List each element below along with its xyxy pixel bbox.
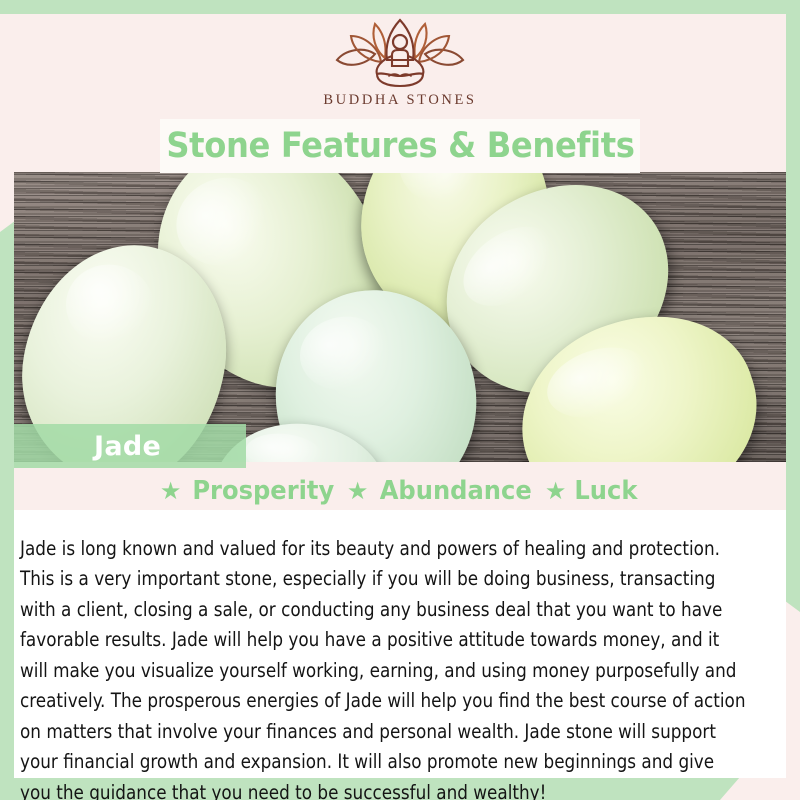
stone-info-card: BUDDHA STONES Stone Features & Benefits … xyxy=(0,0,800,800)
star-icon: ★ xyxy=(160,479,182,503)
stone-name-label: Jade xyxy=(94,431,161,462)
brand-wordmark: BUDDHA STONES xyxy=(0,92,800,109)
description-panel: Jade is long known and valued for its be… xyxy=(14,510,786,778)
benefit-item: ★ Luck xyxy=(545,476,640,506)
benefit-label: Abundance xyxy=(380,476,532,506)
benefit-label: Prosperity xyxy=(193,476,335,506)
stone-name-bar: Jade xyxy=(14,424,246,468)
star-icon: ★ xyxy=(545,479,567,503)
benefit-item: ★ Prosperity xyxy=(160,476,340,506)
page-title: Stone Features & Benefits xyxy=(166,126,634,166)
benefits-row: ★ Prosperity ★ Abundance ★ Luck xyxy=(14,476,786,506)
lotus-meditation-icon xyxy=(325,16,475,90)
description-text: Jade is long known and valued for its be… xyxy=(20,534,748,800)
benefit-item: ★ Abundance xyxy=(347,476,538,506)
star-icon: ★ xyxy=(347,479,369,503)
brand-logo: BUDDHA STONES xyxy=(0,16,800,109)
title-ribbon: Stone Features & Benefits xyxy=(160,119,640,173)
benefit-label: Luck xyxy=(575,476,638,506)
stone-photo xyxy=(14,172,786,462)
frame-band-top xyxy=(0,0,800,14)
